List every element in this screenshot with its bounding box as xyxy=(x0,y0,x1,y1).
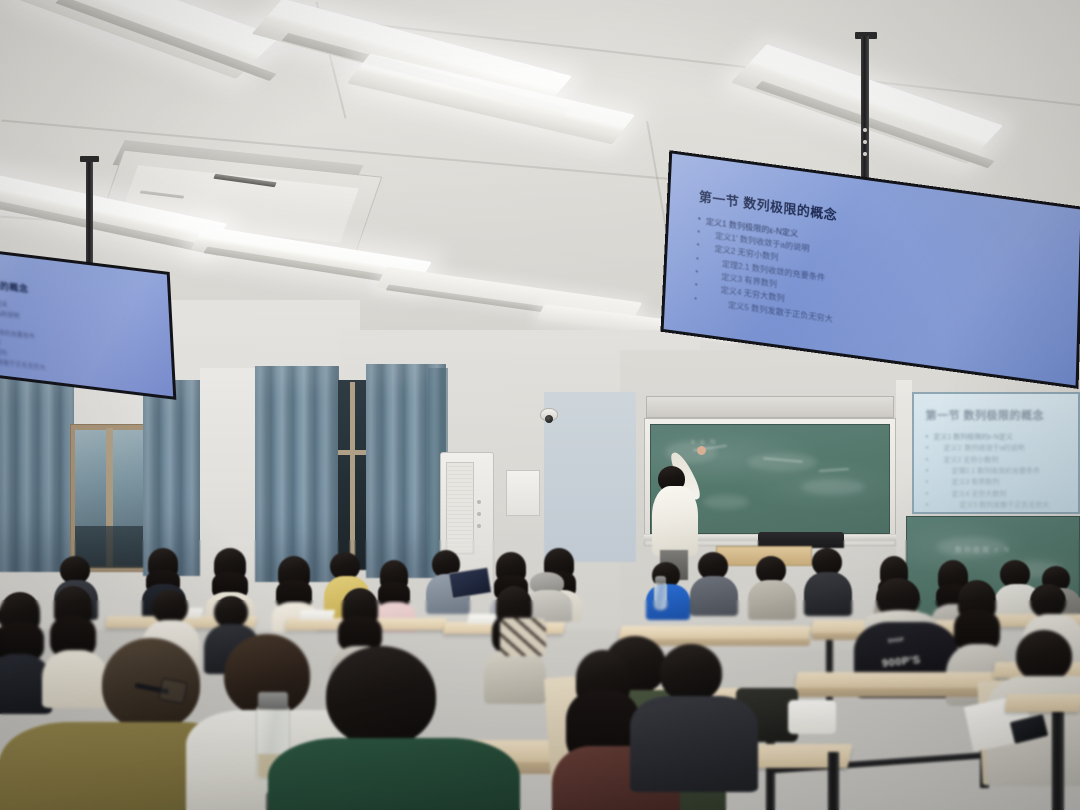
desk-edge xyxy=(795,688,997,697)
hand xyxy=(697,446,706,455)
window-curtain xyxy=(255,366,339,582)
desk-leg xyxy=(1052,700,1064,810)
torso xyxy=(652,486,698,556)
head xyxy=(152,590,188,624)
blackboard-upper-panel xyxy=(646,396,894,418)
head xyxy=(326,646,436,746)
slide-bullet-list: 定义1 数列极限的ε-N定义 定义1' 数列收敛于a的说明 定义2 无穷小数列 … xyxy=(925,432,1069,511)
ac-cabinet-grill xyxy=(446,462,474,554)
torso xyxy=(268,738,520,810)
tv-ceiling-mount-pole xyxy=(861,36,869,188)
slide-bullet: 定义4 无穷大数列 xyxy=(925,489,1069,500)
ac-cabinet-indicator xyxy=(477,524,481,528)
slide-bullet: 定义1 数列极限的ε-N定义 xyxy=(925,432,1069,443)
ac-cabinet-indicator xyxy=(477,500,481,504)
notebook xyxy=(299,610,335,620)
window-mullion xyxy=(350,382,355,568)
classroom-photo-scene: x ≥ N 第一节 数列极限的概念 定义1 数列极限的ε-N定义 定义1' 数列… xyxy=(0,0,1080,810)
tv-ceiling-mount-pole xyxy=(86,160,93,278)
camera-lens-icon xyxy=(545,415,553,423)
torso xyxy=(690,576,738,616)
head xyxy=(1016,630,1072,682)
slide-bullet: 定理2.1 数列收敛的充要条件 xyxy=(925,466,1069,477)
torso xyxy=(484,648,546,704)
desk-leg xyxy=(828,752,839,810)
white-bag xyxy=(788,700,836,734)
torso xyxy=(646,584,690,620)
desk xyxy=(1005,694,1080,712)
slide-bullet: 定义1' 数列收敛于a的说明 xyxy=(925,443,1069,454)
backpack xyxy=(500,618,546,656)
blackboard-chalk-note: x ≥ N xyxy=(691,439,717,446)
projection-slide: 第一节 数列极限的概念 定义1 数列极限的ε-N定义 定义1' 数列收敛于a的说… xyxy=(914,394,1078,512)
torso xyxy=(804,572,852,616)
slide-title: 第一节 数列极限的概念 xyxy=(925,407,1069,423)
ac-cabinet-indicator xyxy=(477,512,481,516)
window-curtain xyxy=(0,372,74,572)
wall-projection-screen: 第一节 数列极限的概念 定义1 数列极限的ε-N定义 定义1' 数列收敛于a的说… xyxy=(912,392,1080,514)
slide-bullet: 定义2 无穷小数列 xyxy=(925,455,1069,466)
slide-bullet: 定义3 有界数列 xyxy=(925,477,1069,488)
eyeglasses-lens xyxy=(158,678,188,705)
torso xyxy=(748,580,796,620)
bottle-cap xyxy=(655,576,666,583)
slide-bullet: 定义5 数列发散于正负无穷大 xyxy=(925,500,1069,511)
torso xyxy=(630,696,758,792)
torso xyxy=(42,650,108,708)
mount-bolt xyxy=(863,128,867,132)
front-wall-accent-band xyxy=(544,392,636,562)
window-curtain xyxy=(143,380,205,576)
mount-bracket xyxy=(80,156,99,162)
head xyxy=(1030,584,1066,618)
wall-notice-board xyxy=(506,470,540,516)
bottle-cap xyxy=(258,692,288,709)
mount-bolt xyxy=(863,140,867,144)
desk xyxy=(794,672,997,689)
mount-bolt xyxy=(863,152,867,156)
blackboard-right-chalk-note: 数列极限 ε N xyxy=(955,545,1011,555)
water-bottle xyxy=(654,582,667,610)
head xyxy=(660,644,722,702)
